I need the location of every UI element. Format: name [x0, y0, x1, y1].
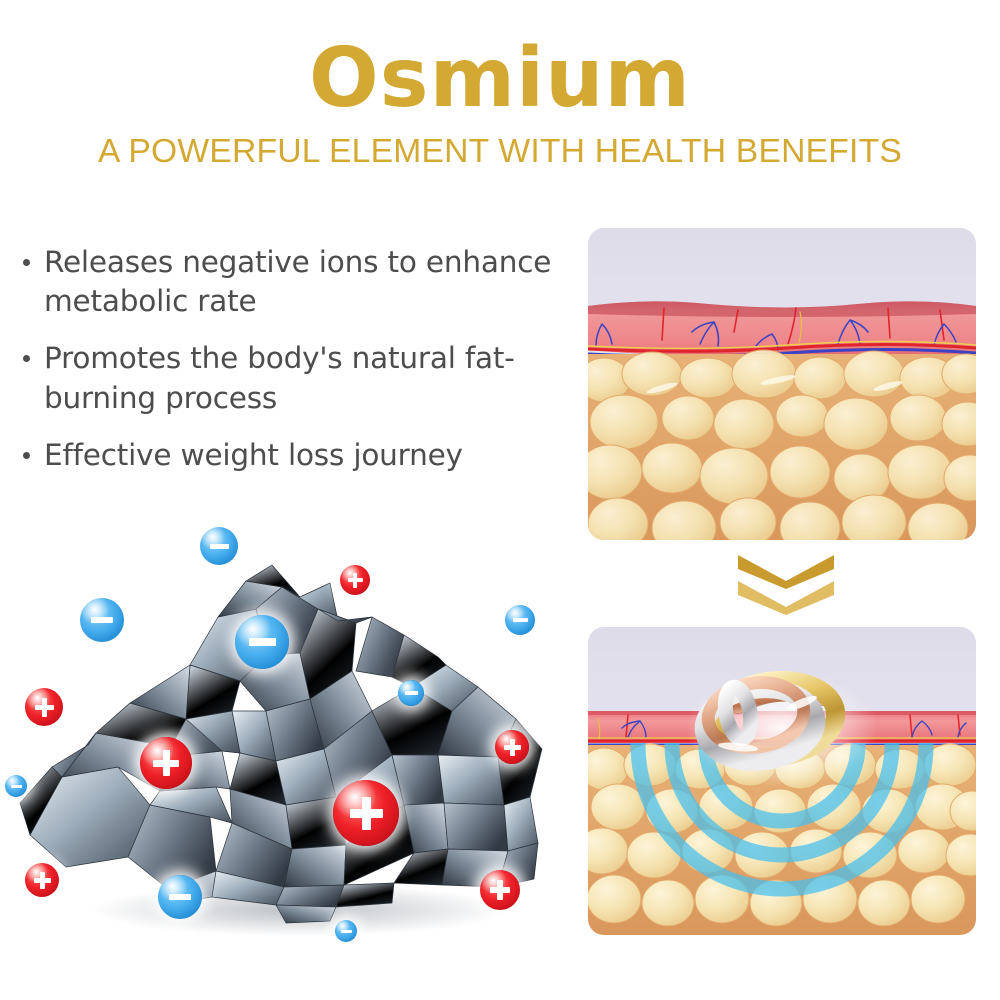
positive-ion-icon — [333, 780, 399, 846]
page-subtitle: A POWERFUL ELEMENT WITH HEALTH BENEFITS — [0, 122, 1000, 170]
skin-cross-section-before — [588, 228, 976, 540]
negative-ion-icon — [505, 605, 535, 635]
osmium-crystal-figure — [0, 505, 570, 965]
negative-ion-icon — [398, 680, 424, 706]
negative-ion-icon — [80, 598, 124, 642]
positive-ion-icon — [340, 565, 370, 595]
chevron-down-icon-bottom — [738, 581, 834, 615]
negative-ion-icon — [5, 775, 27, 797]
benefit-item: Effective weight loss journey — [18, 436, 578, 475]
benefits-list: Releases negative ions to enhance metabo… — [18, 243, 578, 493]
benefit-item: Releases negative ions to enhance metabo… — [18, 243, 578, 321]
positive-ion-icon — [25, 863, 59, 897]
positive-ion-icon — [480, 870, 520, 910]
negative-ion-icon — [235, 615, 289, 669]
negative-ion-icon — [200, 527, 238, 565]
page-title: Osmium — [0, 0, 1000, 122]
benefit-item: Promotes the body's natural fat-burning … — [18, 339, 578, 417]
negative-ion-icon — [335, 920, 357, 942]
positive-ion-icon — [495, 730, 529, 764]
positive-ion-icon — [25, 688, 63, 726]
negative-ion-icon — [158, 875, 202, 919]
double-chevron-down-icon — [738, 555, 834, 617]
positive-ion-icon — [140, 737, 192, 789]
header: Osmium A POWERFUL ELEMENT WITH HEALTH BE… — [0, 0, 1000, 170]
skin-cross-section-after — [588, 627, 976, 935]
